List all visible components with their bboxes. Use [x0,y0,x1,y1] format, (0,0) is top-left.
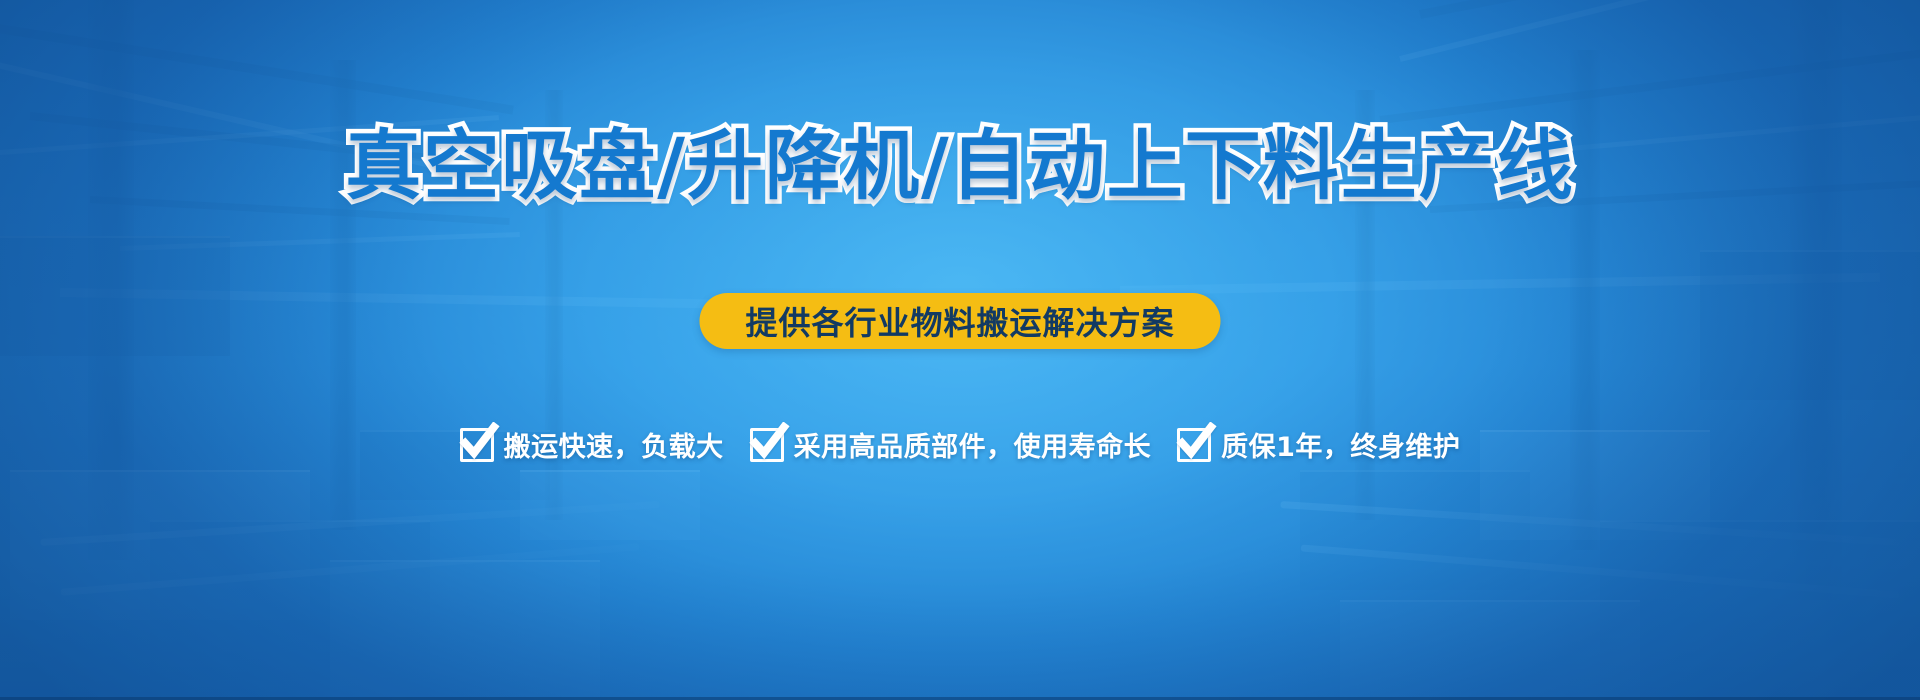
feature-list: 搬运快速，负载大 采用高品质部件，使用寿命长 质保1年，终身维护 [0,425,1920,464]
feature-label: 采用高品质部件，使用寿命长 [794,425,1152,464]
feature-label: 质保1年，终身维护 [1221,425,1460,464]
checkbox-checked-icon [1177,428,1211,462]
subtitle-pill: 提供各行业物料搬运解决方案 [699,293,1220,349]
checkbox-checked-icon [460,428,494,462]
subtitle-pill-label: 提供各行业物料搬运解决方案 [745,298,1174,344]
feature-label: 搬运快速，负载大 [504,425,724,464]
checkbox-checked-icon [750,428,784,462]
feature-item: 采用高品质部件，使用寿命长 [750,425,1152,464]
hero-banner: 真空吸盘/升降机/自动上下料生产线 提供各行业物料搬运解决方案 搬运快速，负载大 [0,0,1920,700]
page-title: 真空吸盘/升降机/自动上下料生产线 [0,128,1920,204]
feature-item: 搬运快速，负载大 [460,425,724,464]
banner-content: 真空吸盘/升降机/自动上下料生产线 提供各行业物料搬运解决方案 搬运快速，负载大 [0,0,1920,700]
feature-item: 质保1年，终身维护 [1177,425,1460,464]
